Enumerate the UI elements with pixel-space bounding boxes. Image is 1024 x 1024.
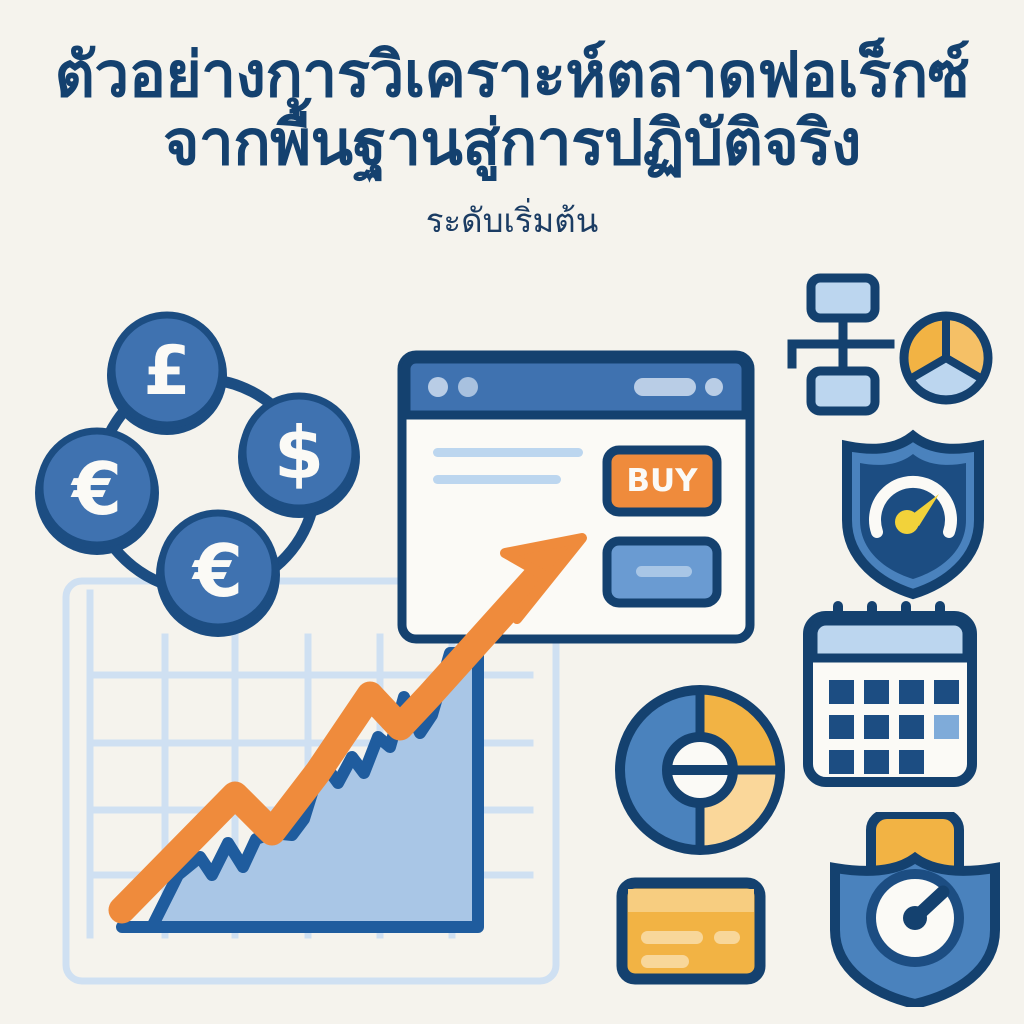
card-chip-bar: [714, 931, 740, 944]
calendar-icon[interactable]: [800, 598, 980, 790]
content-line-1: [433, 448, 583, 457]
pound-coin: £: [107, 315, 227, 435]
card-name-bar: [641, 955, 689, 968]
card-magnetic-stripe: [628, 889, 754, 912]
gauge-hub: [895, 510, 919, 534]
buy-button-label: BUY: [626, 463, 698, 499]
lock-clock-hub: [903, 906, 927, 930]
calendar-header-band: [813, 621, 967, 658]
flowchart-box-bottom[interactable]: [811, 371, 875, 411]
pie-chart-icon[interactable]: [896, 308, 996, 408]
euro-coin-1: €: [35, 431, 159, 555]
flowchart-box-top[interactable]: [811, 278, 875, 318]
trading-browser-window[interactable]: BUY: [396, 345, 756, 645]
lock-shield-icon[interactable]: [825, 812, 1005, 1007]
dollar-coin: $: [238, 396, 360, 518]
euro-symbol-2: €: [191, 529, 243, 613]
window-dot-2[interactable]: [458, 377, 478, 397]
window-dot-1[interactable]: [428, 377, 448, 397]
page-subtitle: ระดับเริ่มต้น: [0, 194, 1024, 247]
page-title-line-2: จากพื้นฐานสู่การปฏิบัติจริง: [0, 112, 1024, 174]
secondary-button-bar: [636, 566, 692, 577]
address-bar-pill[interactable]: [634, 378, 696, 396]
pound-symbol: £: [143, 332, 190, 411]
euro-coin-2: €: [156, 513, 280, 637]
page-title-line-1: ตัวอย่างการวิเคราะห์ตลาดฟอเร็กซ์: [0, 44, 1024, 106]
calendar-highlight-cell: [934, 715, 959, 739]
flowchart-connectors: [792, 318, 890, 371]
currency-exchange-coins: £ $ € €: [20, 290, 400, 640]
card-number-bar: [641, 931, 703, 944]
euro-symbol-1: €: [70, 447, 122, 531]
donut-chart-icon[interactable]: [612, 682, 788, 858]
window-menu-dot[interactable]: [705, 378, 723, 396]
flowchart-icon[interactable]: [786, 272, 896, 417]
header-block: ตัวอย่างการวิเคราะห์ตลาดฟอเร็กซ์ จากพื้น…: [0, 44, 1024, 247]
shield-gauge-icon[interactable]: [833, 428, 993, 600]
content-line-2: [433, 475, 561, 484]
poster-canvas: ตัวอย่างการวิเคราะห์ตลาดฟอเร็กซ์ จากพื้น…: [0, 0, 1024, 1024]
credit-card-icon[interactable]: [615, 876, 767, 986]
dollar-symbol: $: [274, 411, 324, 495]
